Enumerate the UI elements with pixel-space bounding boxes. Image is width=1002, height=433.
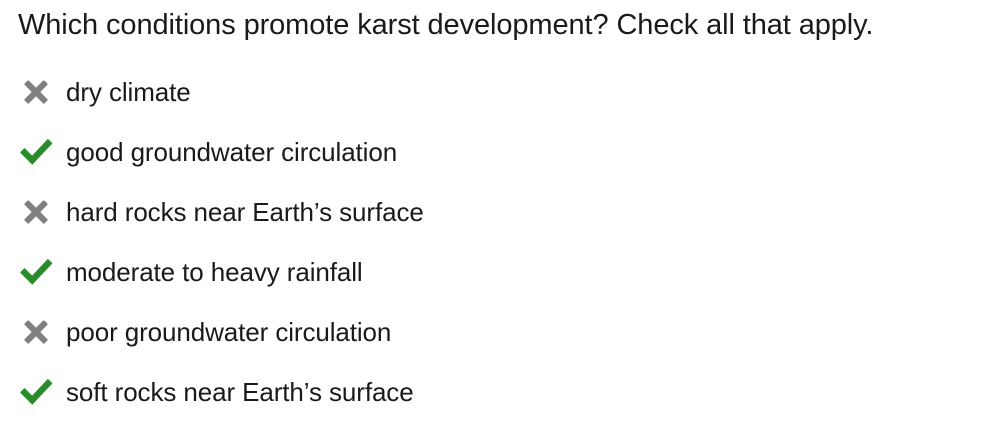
question-text: Which conditions promote karst developme… <box>18 6 873 44</box>
options-list: dry climate good groundwater circulation… <box>0 62 1002 422</box>
option-row[interactable]: soft rocks near Earth’s surface <box>0 362 1002 422</box>
cross-icon <box>20 316 52 348</box>
check-icon <box>20 136 52 168</box>
option-row[interactable]: moderate to heavy rainfall <box>0 242 1002 302</box>
option-label: hard rocks near Earth’s surface <box>66 197 424 227</box>
cross-icon <box>20 196 52 228</box>
option-label: poor groundwater circulation <box>66 317 391 347</box>
quiz-panel: Which conditions promote karst developme… <box>0 0 1002 433</box>
option-label: dry climate <box>66 77 191 107</box>
option-row[interactable]: hard rocks near Earth’s surface <box>0 182 1002 242</box>
cross-icon <box>20 76 52 108</box>
option-row[interactable]: good groundwater circulation <box>0 122 1002 182</box>
check-icon <box>20 376 52 408</box>
option-label: good groundwater circulation <box>66 137 397 167</box>
option-label: moderate to heavy rainfall <box>66 257 363 287</box>
option-row[interactable]: poor groundwater circulation <box>0 302 1002 362</box>
option-row[interactable]: dry climate <box>0 62 1002 122</box>
check-icon <box>20 256 52 288</box>
option-label: soft rocks near Earth’s surface <box>66 377 414 407</box>
